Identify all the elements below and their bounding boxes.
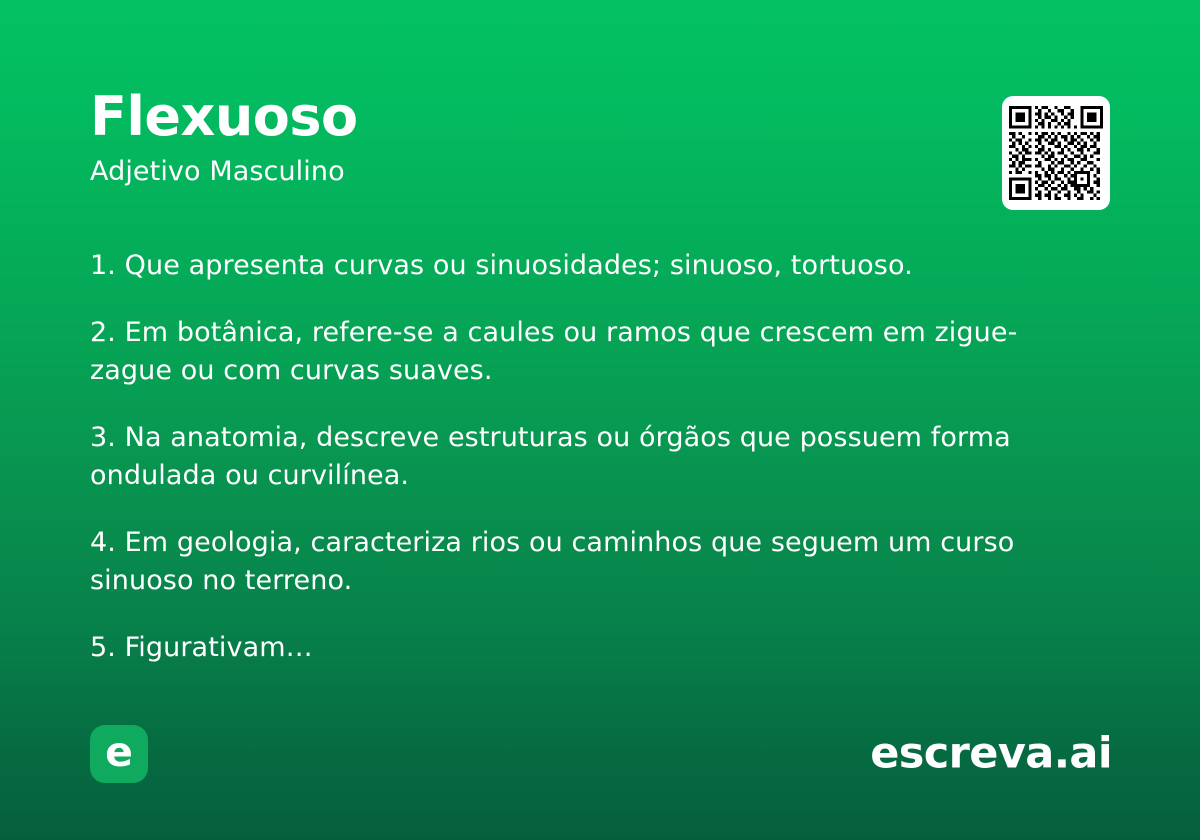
definition-list: 1. Que apresenta curvas ou sinuosidades;… xyxy=(90,247,1065,667)
qr-code-card[interactable] xyxy=(1002,96,1110,210)
list-item: 2. Em botânica, refere-se a caules ou ra… xyxy=(90,314,1065,391)
brand-logo-letter: e xyxy=(90,725,148,783)
list-item: 5. Figurativam… xyxy=(90,629,1065,668)
card-footer: e escreva.ai xyxy=(90,725,1112,783)
brand-logo-badge: e xyxy=(90,725,148,783)
list-item: 4. Em geologia, caracteriza rios ou cami… xyxy=(90,524,1065,601)
word-class-label: Adjetivo Masculino xyxy=(90,156,358,187)
page-title: Flexuoso xyxy=(90,88,358,145)
qr-code-icon xyxy=(1009,103,1103,203)
list-item: 1. Que apresenta curvas ou sinuosidades;… xyxy=(90,247,1065,286)
list-item: 3. Na anatomia, descreve estruturas ou ó… xyxy=(90,419,1065,496)
brand-wordmark: escreva.ai xyxy=(870,733,1112,776)
card-header: Flexuoso Adjetivo Masculino xyxy=(90,88,358,187)
definition-card: Flexuoso Adjetivo Masculino xyxy=(0,0,1200,840)
